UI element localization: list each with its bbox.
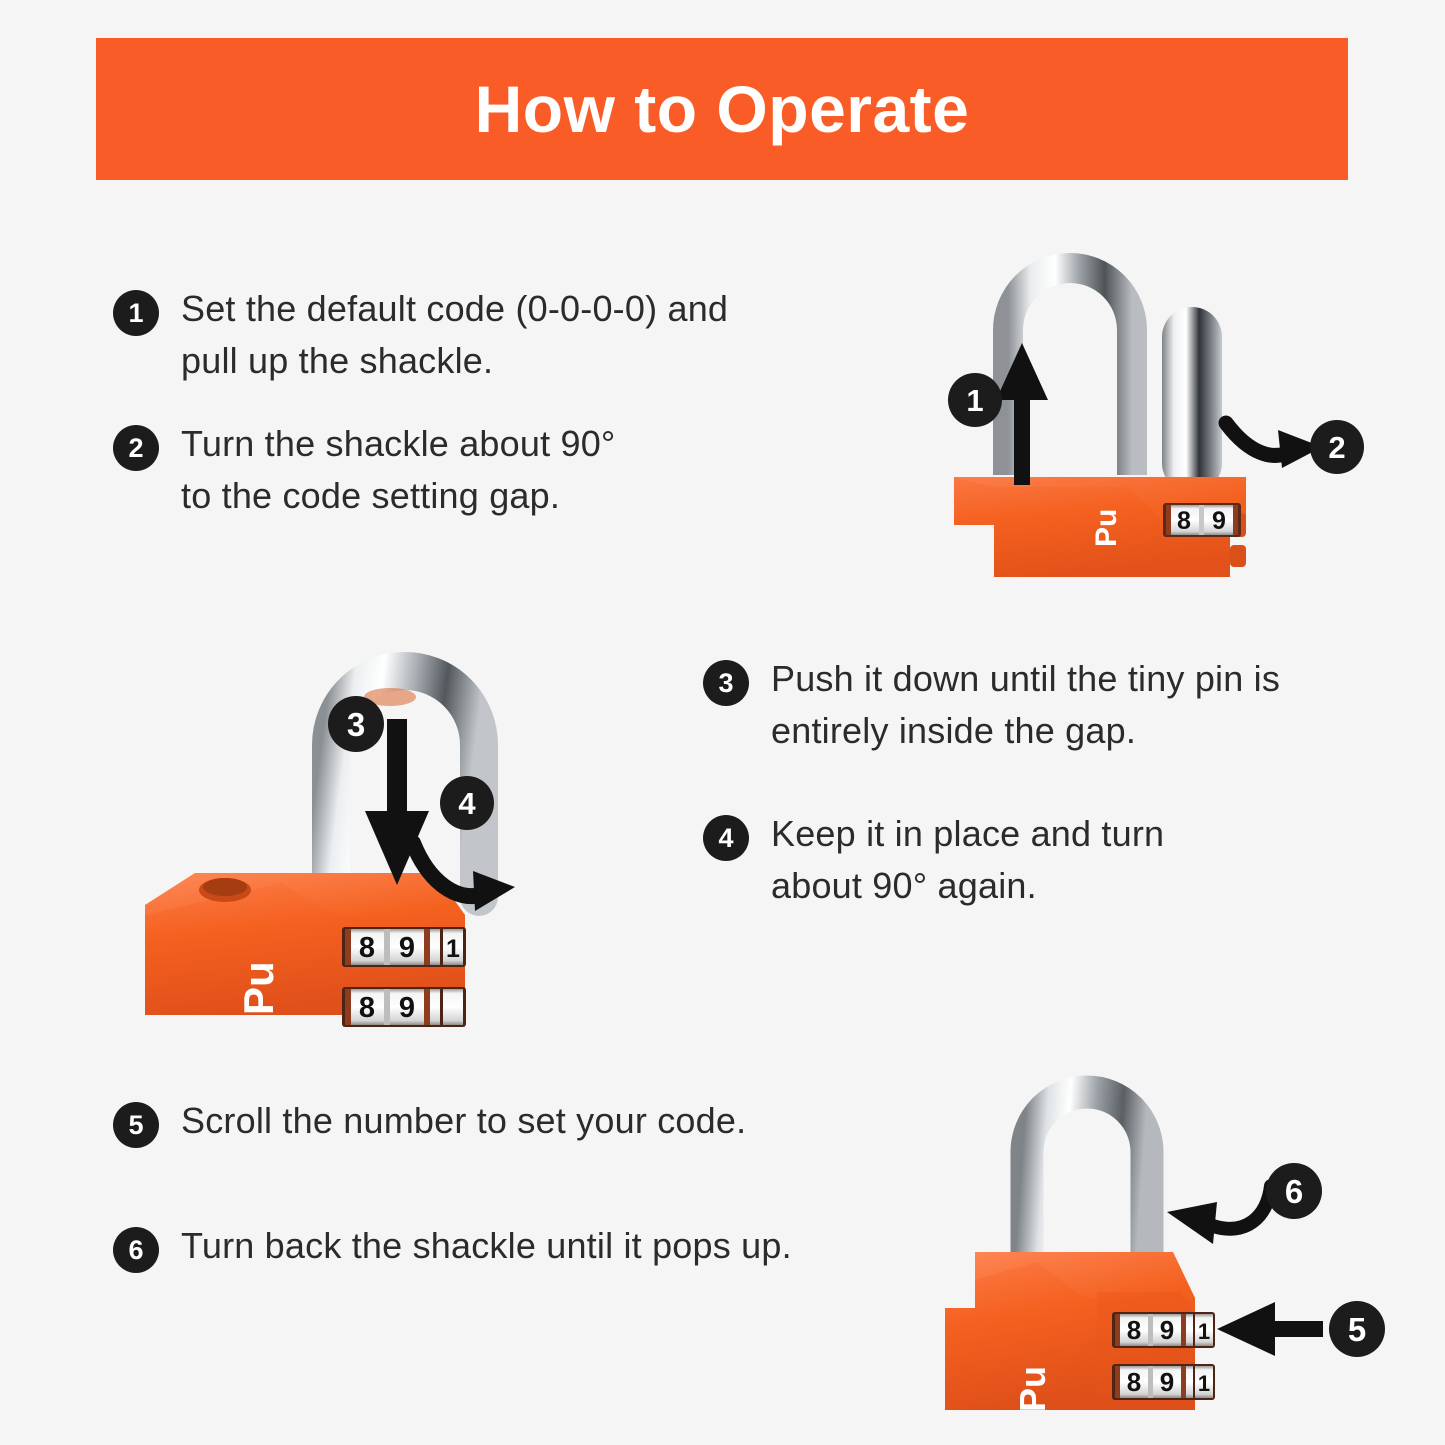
callout-badge-6: 6 [1266, 1163, 1322, 1219]
dial-digit: 1 [1198, 1319, 1210, 1344]
header-banner: How to Operate [96, 38, 1348, 180]
step-text-5: Scroll the number to set your code. [181, 1095, 746, 1147]
step-number-badge-6: 6 [113, 1227, 159, 1273]
dial-digit: 9 [399, 992, 415, 1024]
dial-window-row-1: 8 9 1 [342, 927, 466, 967]
callout-badge-3: 3 [328, 696, 384, 752]
dial-digit: 8 [359, 992, 375, 1024]
step-item-3: 3 Push it down until the tiny pin is ent… [703, 653, 1280, 757]
curved-arrow-right-icon [1226, 423, 1322, 468]
callout-badge-4: 4 [440, 776, 494, 830]
dial-digit: 8 [1127, 1367, 1141, 1397]
dial-window-row-1: 8 9 1 [1112, 1312, 1215, 1348]
dial-digit: 9 [399, 932, 415, 964]
shackle-hole-inner [203, 878, 247, 896]
brand-label: Pu [1090, 509, 1123, 547]
step-number-badge-3: 3 [703, 660, 749, 706]
step-item-6: 6 Turn back the shackle until it pops up… [113, 1220, 792, 1273]
step-item-2: 2 Turn the shackle about 90° to the code… [113, 418, 616, 522]
dial-digit: 8 [1177, 507, 1191, 535]
page-title: How to Operate [475, 76, 970, 142]
step-text-2: Turn the shackle about 90° to the code s… [181, 418, 616, 522]
dial-digit: 8 [1127, 1315, 1141, 1345]
curved-arrow-left-icon [1167, 1186, 1271, 1244]
infographic-canvas: How to Operate 1 Set the default code (0… [0, 0, 1445, 1445]
lock-body-edge-2 [1230, 545, 1246, 567]
step-number-badge-5: 5 [113, 1102, 159, 1148]
dial-window: 8 9 [1163, 503, 1241, 537]
dial-digit: 9 [1212, 507, 1226, 535]
callout-badge-1: 1 [948, 373, 1002, 427]
step-text-1: Set the default code (0-0-0-0) and pull … [181, 283, 728, 387]
step-text-6: Turn back the shackle until it pops up. [181, 1220, 792, 1272]
step-text-3: Push it down until the tiny pin is entir… [771, 653, 1280, 757]
step-item-4: 4 Keep it in place and turn about 90° ag… [703, 808, 1164, 912]
padlock-illustration-steps-5-6: Pu 8 9 1 8 9 [945, 1040, 1365, 1445]
step-item-1: 1 Set the default code (0-0-0-0) and pul… [113, 283, 728, 387]
callout-badge-5: 5 [1329, 1301, 1385, 1357]
dial-digit: 1 [446, 935, 460, 963]
dial-window-row-2: 8 9 [342, 987, 466, 1027]
step-item-5: 5 Scroll the number to set your code. [113, 1095, 746, 1148]
dial-window-row-2: 8 9 1 [1112, 1364, 1215, 1400]
callout-badge-2: 2 [1310, 420, 1364, 474]
dial-digit: 1 [1198, 1371, 1210, 1396]
dial-digit: 9 [1160, 1315, 1174, 1345]
shackle-lifted-leg [1162, 307, 1222, 493]
brand-label: Pu [1012, 1366, 1053, 1412]
step-text-4: Keep it in place and turn about 90° agai… [771, 808, 1164, 912]
brand-label: Pu [235, 961, 282, 1015]
step-number-badge-2: 2 [113, 425, 159, 471]
dial-digit: 9 [1160, 1367, 1174, 1397]
step-number-badge-1: 1 [113, 290, 159, 336]
padlock-illustration-steps-3-4: Pu 8 9 1 8 9 [185, 615, 625, 1015]
arrow-left-icon [1217, 1302, 1323, 1356]
step-number-badge-4: 4 [703, 815, 749, 861]
shackle-arch [1027, 1092, 1147, 1258]
dial-digit: 8 [359, 932, 375, 964]
